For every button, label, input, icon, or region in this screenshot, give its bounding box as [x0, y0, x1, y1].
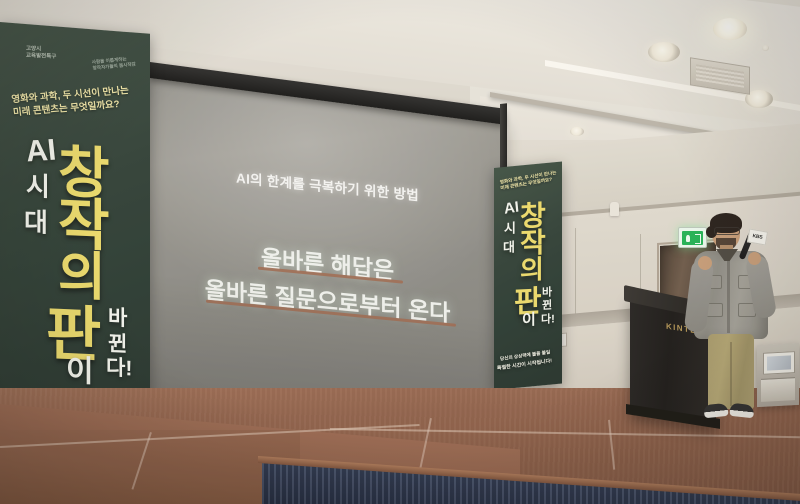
slide-heading: AI의 한계를 극복하기 위한 방법: [150, 158, 505, 212]
banner-left-i: 이: [66, 346, 94, 391]
wall-sensor-icon: [610, 202, 619, 216]
banner-right-dae: 대: [503, 236, 515, 256]
speaker-shoe-left: [703, 403, 728, 418]
banner-left-da: 다!: [106, 351, 132, 382]
banner-right-ai: AI: [503, 199, 520, 218]
speaker-pants: [708, 334, 754, 409]
banner-right-subtitle: 영화와 과학, 두 시선이 만나는 미래 콘텐츠는 무엇일까요?: [499, 170, 557, 192]
banner-left-sponsor: 사람을 이롭게하는 창작자가들의 봄시작감: [91, 56, 136, 71]
speaker-right-hand: [748, 252, 761, 265]
banner-right-si: 시: [504, 217, 516, 237]
banner-right-i: 이: [522, 308, 536, 330]
glasses-icon: [714, 227, 740, 235]
downlight-icon: [648, 42, 680, 62]
banner-right-da: 다!: [541, 310, 555, 327]
downlight-icon: [713, 18, 747, 40]
projection-screen: AI의 한계를 극복하기 위한 방법 올바른 해답은 올바른 질문으로부터 온다: [150, 74, 505, 441]
microphone-flag: KBS: [747, 228, 768, 245]
speaker-person: KBS: [686, 216, 778, 421]
microphone-flag-label: KBS: [752, 233, 763, 241]
downlight-icon: [762, 45, 769, 51]
banner-left-subtitle: 영화와 과학, 두 시선이 만나는 미래 콘텐츠는 무엇일까요?: [11, 85, 131, 120]
banner-left-ai: AI: [24, 134, 57, 170]
banner-left-organizer: 고양시 교육발전특구: [26, 46, 56, 61]
lecture-hall-photo: AI의 한계를 극복하기 위한 방법 올바른 해답은 올바른 질문으로부터 온다…: [0, 0, 800, 504]
floor-left-section: [0, 430, 300, 504]
banner-left-dae: 대: [24, 202, 48, 240]
banner-left-si: 시: [26, 166, 50, 204]
banner-right: 영화와 과학, 두 시선이 만나는 미래 콘텐츠는 무엇일까요? AI 시 대 …: [494, 161, 562, 390]
downlight-icon: [570, 127, 584, 136]
